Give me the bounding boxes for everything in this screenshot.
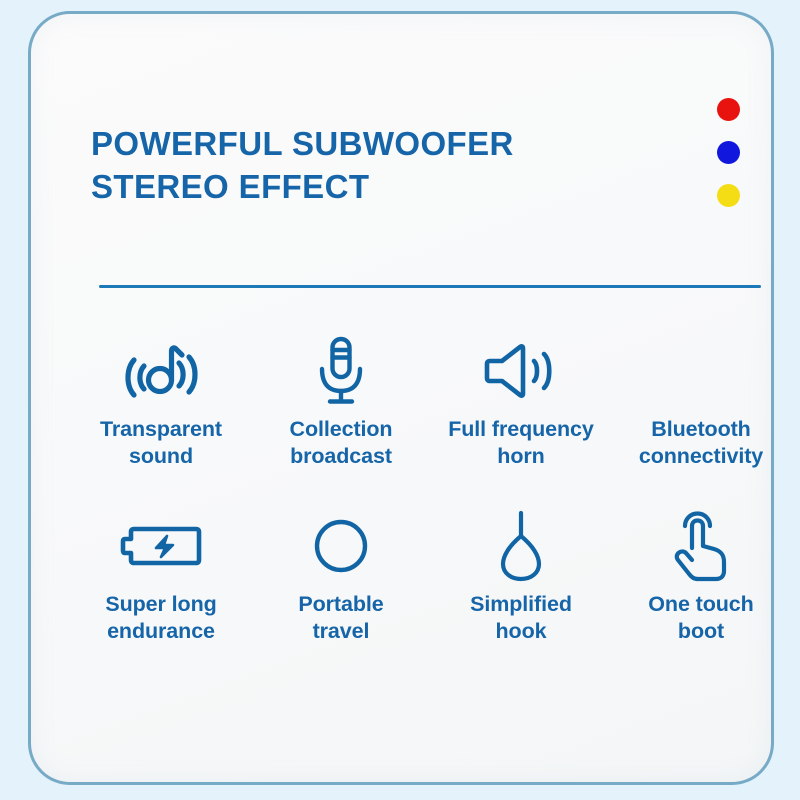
feature-item-simplified-hook: Simplified hook (431, 509, 611, 684)
hook-loop-icon (498, 509, 544, 583)
feature-label: One touch boot (648, 591, 753, 645)
red-dot (717, 98, 740, 121)
feature-item-full-frequency-horn: Full frequency horn (431, 334, 611, 509)
feature-label: Full frequency horn (448, 416, 594, 470)
feature-item-collection-broadcast: Collection broadcast (251, 334, 431, 509)
feature-item-bluetooth-connectivity: Bluetooth connectivity (611, 334, 791, 509)
header-divider (99, 285, 761, 288)
feature-label: Simplified hook (470, 591, 572, 645)
product-feature-banner: POWERFUL SUBWOOFER STEREO EFFECT (0, 0, 800, 800)
circle-ring-icon (313, 509, 369, 583)
touch-tap-hand-icon (671, 509, 731, 583)
page-title-line-2: STEREO EFFECT (91, 165, 651, 208)
feature-item-portable-travel: Portable travel (251, 509, 431, 684)
feature-label: Collection broadcast (290, 416, 393, 470)
battery-charging-icon (120, 509, 202, 583)
feature-item-one-touch-boot: One touch boot (611, 509, 791, 684)
page-title: POWERFUL SUBWOOFER STEREO EFFECT (91, 122, 651, 208)
music-note-sound-waves-icon (122, 334, 200, 408)
feature-grid: Transparent sound Collection broadcast (71, 334, 791, 684)
microphone-icon (314, 334, 368, 408)
yellow-dot (717, 184, 740, 207)
feature-label: Super long endurance (105, 591, 216, 645)
feature-label: Transparent sound (100, 416, 222, 470)
feature-item-super-long-endurance: Super long endurance (71, 509, 251, 684)
feature-item-transparent-sound: Transparent sound (71, 334, 251, 509)
info-card: POWERFUL SUBWOOFER STEREO EFFECT (28, 11, 774, 785)
page-title-line-1: POWERFUL SUBWOOFER (91, 122, 651, 165)
feature-label: Bluetooth connectivity (616, 416, 786, 470)
color-dot-group (717, 98, 743, 227)
feature-label: Portable travel (298, 591, 383, 645)
blue-dot (717, 141, 740, 164)
speaker-volume-icon (484, 334, 558, 408)
